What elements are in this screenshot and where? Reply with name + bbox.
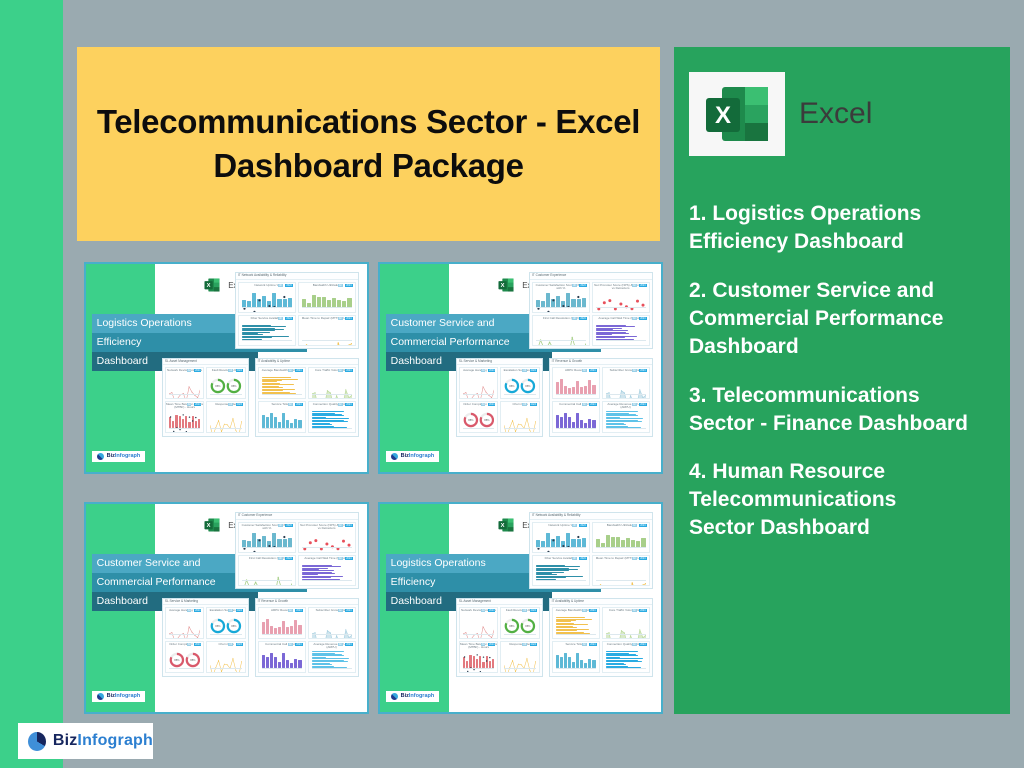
chart-plot <box>242 292 292 308</box>
chart-plot: 88%88% <box>504 377 536 394</box>
chart-cell: Fiber Service Availability2024All <box>532 555 590 586</box>
chart-plot <box>536 292 586 308</box>
chart-cell: Order Completion Rate2024All88%88% <box>165 641 205 673</box>
chart-badge-alt: All <box>572 317 577 320</box>
title-card: Telecommunications Sector - Excel Dashbo… <box>77 47 660 241</box>
dashboard-panel: IT Network Availability & ReliabilityNet… <box>235 272 359 349</box>
chart-cell: Mean Time to Repair (MTTR) - Hours2024Al… <box>298 315 356 346</box>
slide-canvas: Telecommunications Sector - Excel Dashbo… <box>0 0 1024 768</box>
chart-plot <box>606 377 646 394</box>
chart-cell: Customer Satisfaction Score (CSAT) - wit… <box>532 282 590 313</box>
chart-cell: Customer Satisfaction Score (CSAT) - wit… <box>238 522 296 553</box>
chart-plot: 88%88% <box>169 651 201 668</box>
chart-badge: 2024 <box>488 643 495 646</box>
chart-plot <box>262 651 302 668</box>
chart-badge: 2024 <box>345 284 352 287</box>
chart-plot <box>312 617 352 634</box>
dashboard-panel: IT Availability & UptimeAverage Bandwidt… <box>255 358 359 437</box>
chart-plot <box>556 617 596 634</box>
chart-cell: Mean Time to Repair (MTTR) - Hours2024Al… <box>592 555 650 586</box>
chart-cell: Response Index2024All <box>500 641 540 673</box>
chart-plot: 88%88% <box>463 411 495 428</box>
chart-plot <box>596 292 646 308</box>
chart-badge-alt: All <box>338 369 343 372</box>
chart-cell: Network Device Downtime2024All <box>459 607 499 639</box>
chart-badge-alt: All <box>338 524 343 527</box>
excel-branding: X Excel <box>689 72 988 156</box>
chart-cell: Average Call Wait Time (Minutes)2024All <box>298 555 356 586</box>
chart-badge-alt: All <box>632 524 637 527</box>
chart-plot <box>302 565 352 581</box>
chart-cell: Order Completion Rate2024All88%88% <box>459 401 499 433</box>
chart-badge-alt: All <box>338 317 343 320</box>
svg-text:88%: 88% <box>468 418 474 422</box>
svg-text:88%: 88% <box>525 624 531 628</box>
chart-badge: 2024 <box>589 609 596 612</box>
chart-cell: Mean Time Between Failure (MTBF) - Hours… <box>459 641 499 673</box>
chart-cell: Response Index2024All <box>206 401 246 433</box>
excel-logo-svg: X <box>700 81 774 147</box>
chart-badge-alt: All <box>582 369 587 372</box>
chart-plot <box>312 377 352 394</box>
chart-badge-alt: All <box>632 317 637 320</box>
chart-badge: 2024 <box>345 524 352 527</box>
chart-badge: 2024 <box>345 557 352 560</box>
chart-plot <box>262 411 302 428</box>
chart-badge-alt: All <box>187 609 192 612</box>
chart-plot <box>312 411 352 428</box>
chart-plot <box>312 651 352 668</box>
chart-badge: 2024 <box>639 557 646 560</box>
chart-cell: Churn Rate2024All <box>500 401 540 433</box>
chart-cell: Commercial Call Volume2024All <box>552 401 600 433</box>
logo-text: BizInfograph <box>401 693 435 699</box>
biz-infograph-logo: BizInfograph <box>386 451 440 462</box>
excel-label: Excel <box>799 97 872 131</box>
chart-badge: 2024 <box>285 557 292 560</box>
chart-cell: ARPU Revenue2024All <box>258 607 306 639</box>
chart-plot <box>606 651 646 668</box>
chart-badge: 2024 <box>589 369 596 372</box>
chart-plot <box>504 651 536 668</box>
chart-badge: 2024 <box>345 369 352 372</box>
chart-cell: Average Call Wait Time (Minutes)2024All <box>592 315 650 346</box>
dashboard-panel: IT Availability & UptimeAverage Bandwidt… <box>549 598 653 677</box>
chart-plot <box>556 651 596 668</box>
chart-cell: Subscriber Growth Rate2024All <box>602 367 650 399</box>
chart-cell: Fault Resolution Rate2024All88%88% <box>206 367 246 399</box>
chart-badge-alt: All <box>632 284 637 287</box>
chart-badge: 2024 <box>345 643 352 646</box>
chart-cell: Network Uptime %2024All <box>238 282 296 313</box>
pie-chart-icon <box>391 693 398 700</box>
chart-badge: 2024 <box>589 643 596 646</box>
list-item[interactable]: 1. Logistics Operations Efficiency Dashb… <box>689 200 988 256</box>
chart-badge: 2024 <box>236 403 243 406</box>
chart-badge-alt: All <box>187 369 192 372</box>
svg-text:88%: 88% <box>231 624 237 628</box>
chart-plot <box>210 411 242 428</box>
chart-plot <box>606 617 646 634</box>
chart-plot <box>463 617 495 634</box>
chart-badge-alt: All <box>572 524 577 527</box>
chart-plot <box>169 377 201 394</box>
chart-badge: 2024 <box>295 609 302 612</box>
dashboard-panel: IT Customer ExperienceCustomer Satisfact… <box>235 512 359 589</box>
chart-cell: Connection Quality Indicator2024All <box>602 641 650 673</box>
chart-badge-alt: All <box>278 317 283 320</box>
chart-plot <box>504 411 536 428</box>
excel-logo-icon: X <box>495 515 517 535</box>
chart-badge-alt: All <box>632 557 637 560</box>
chart-cell: Bandwidth Utilization2024All <box>298 282 356 313</box>
chart-badge: 2024 <box>345 609 352 612</box>
dashboard-list-panel: X Excel 1. Logistics Operations Efficien… <box>674 47 1010 714</box>
chart-badge: 2024 <box>236 643 243 646</box>
chart-plot <box>242 532 292 548</box>
svg-text:88%: 88% <box>190 658 196 662</box>
chart-plot <box>463 377 495 394</box>
chart-badge-alt: All <box>481 643 486 646</box>
chart-badge: 2024 <box>579 284 586 287</box>
logo-text: BizInfograph <box>107 693 141 699</box>
chart-plot <box>556 377 596 394</box>
biz-infograph-logo: BizInfograph <box>18 723 153 759</box>
chart-badge-alt: All <box>338 609 343 612</box>
chart-badge: 2024 <box>285 284 292 287</box>
chart-cell: Network Uptime %2024All <box>532 522 590 553</box>
svg-text:X: X <box>207 284 211 290</box>
chart-badge-alt: All <box>288 609 293 612</box>
svg-text:88%: 88% <box>510 624 516 628</box>
chart-badge: 2024 <box>194 609 201 612</box>
chart-cell: Subscriber Growth Rate2024All <box>308 607 356 639</box>
chart-badge: 2024 <box>285 317 292 320</box>
chart-badge-alt: All <box>481 369 486 372</box>
list-item[interactable]: 4. Human Resource Telecommunications Sec… <box>689 458 988 542</box>
chart-badge-alt: All <box>481 609 486 612</box>
chart-badge: 2024 <box>488 609 495 612</box>
chart-cell: Network Device Downtime2024All <box>165 367 205 399</box>
chart-cell: Average Revenue per User (ARPU)2024All <box>602 401 650 433</box>
list-item[interactable]: 3. Telecommunications Sector - Finance D… <box>689 382 988 438</box>
excel-logo-icon: X <box>495 275 517 295</box>
biz-infograph-logo: BizInfograph <box>386 691 440 702</box>
svg-text:88%: 88% <box>216 624 222 628</box>
chart-plot <box>302 532 352 548</box>
chart-cell: Core Traffic Volume (GB)2024All <box>308 367 356 399</box>
chart-badge-alt: All <box>338 557 343 560</box>
chart-plot: 88%88% <box>210 617 242 634</box>
chart-badge-alt: All <box>632 403 637 406</box>
chart-badge-alt: All <box>582 609 587 612</box>
chart-badge-alt: All <box>338 403 343 406</box>
chart-plot <box>242 565 292 581</box>
svg-text:X: X <box>207 524 211 530</box>
chart-badge-alt: All <box>572 557 577 560</box>
chart-plot <box>169 411 201 428</box>
chart-badge: 2024 <box>639 643 646 646</box>
chart-cell: Fault Resolution Rate2024All88%88% <box>500 607 540 639</box>
logo-text: BizInfograph <box>53 732 153 750</box>
dashboard-thumbnail-2[interactable]: XExcelCustomer Service andCommercial Per… <box>378 262 663 474</box>
chart-cell: Average Revenue per User (ARPU)2024All <box>308 641 356 673</box>
chart-plot <box>169 617 201 634</box>
svg-text:88%: 88% <box>525 384 531 388</box>
dashboard-panel: IT Customer ExperienceCustomer Satisfact… <box>529 272 653 349</box>
chart-badge: 2024 <box>345 403 352 406</box>
biz-infograph-logo: BizInfograph <box>92 451 146 462</box>
chart-badge: 2024 <box>295 643 302 646</box>
chart-badge-alt: All <box>338 643 343 646</box>
chart-badge: 2024 <box>589 403 596 406</box>
list-item[interactable]: 2. Customer Service and Commercial Perfo… <box>689 277 988 361</box>
chart-badge: 2024 <box>295 403 302 406</box>
chart-plot <box>556 411 596 428</box>
chart-cell: Core Traffic Volume (GB)2024All <box>602 607 650 639</box>
dashboard-panel: SL Asset ManagementNetwork Device Downti… <box>456 598 543 677</box>
chart-cell: Net Promoter Score (NPS) & Promoters vs … <box>592 282 650 313</box>
chart-badge-alt: All <box>572 284 577 287</box>
svg-text:88%: 88% <box>174 658 180 662</box>
chart-cell: Service Tickets2024All <box>552 641 600 673</box>
chart-badge: 2024 <box>579 317 586 320</box>
pie-chart-icon <box>391 453 398 460</box>
dashboard-panel: SL Service & MarketingAverage Handling T… <box>456 358 543 437</box>
chart-badge-alt: All <box>522 643 527 646</box>
chart-cell: Bandwidth Utilization2024All <box>592 522 650 553</box>
chart-plot: 88%88% <box>210 377 242 394</box>
chart-cell: Mean Time Between Failure (MTBF) - Hours… <box>165 401 205 433</box>
chart-cell: Average Handling Time2024All <box>459 367 499 399</box>
chart-cell: Escalation Success Rate2024All88%88% <box>500 367 540 399</box>
chart-badge-alt: All <box>228 643 233 646</box>
chart-plot <box>606 411 646 428</box>
chart-cell: Commercial Call Volume2024All <box>258 641 306 673</box>
chart-cell: Average Bandwidth Efficiency2024All <box>258 367 306 399</box>
chart-plot <box>463 651 495 668</box>
dashboard-panel: SL Asset ManagementNetwork Device Downti… <box>162 358 249 437</box>
chart-badge: 2024 <box>488 369 495 372</box>
chart-badge: 2024 <box>194 369 201 372</box>
chart-badge: 2024 <box>194 403 201 406</box>
chart-badge-alt: All <box>288 369 293 372</box>
dashboard-panel: SL Service & MarketingAverage Handling T… <box>162 598 249 677</box>
left-accent-strip <box>0 0 63 768</box>
logo-text: BizInfograph <box>401 453 435 459</box>
svg-text:88%: 88% <box>510 384 516 388</box>
chart-plot: 88%88% <box>504 617 536 634</box>
chart-plot <box>596 565 646 581</box>
dashboard-panel: IT Revenue & GrowthARPU Revenue2024AllSu… <box>549 358 653 437</box>
chart-badge: 2024 <box>639 403 646 406</box>
chart-cell: Escalation Success Rate2024All88%88% <box>206 607 246 639</box>
biz-infograph-logo: BizInfograph <box>92 691 146 702</box>
chart-badge: 2024 <box>530 403 537 406</box>
chart-badge-alt: All <box>632 643 637 646</box>
chart-badge-alt: All <box>278 284 283 287</box>
chart-badge-alt: All <box>632 609 637 612</box>
chart-badge-alt: All <box>288 403 293 406</box>
chart-plot <box>596 532 646 548</box>
dashboard-thumbnail-1[interactable]: XExcelLogistics OperationsEfficiencyDash… <box>84 262 369 474</box>
chart-cell: Service Tickets2024All <box>258 401 306 433</box>
excel-logo-icon: X <box>201 275 223 295</box>
dashboard-panel: IT Revenue & GrowthARPU Revenue2024AllSu… <box>255 598 359 677</box>
logo-text-biz: Biz <box>53 732 78 749</box>
svg-text:88%: 88% <box>216 384 222 388</box>
chart-cell: Fiber Service Availability2024All <box>238 315 296 346</box>
chart-plot <box>242 325 292 341</box>
chart-badge: 2024 <box>639 524 646 527</box>
chart-badge-alt: All <box>582 403 587 406</box>
pie-chart-icon <box>97 453 104 460</box>
chart-badge-alt: All <box>228 403 233 406</box>
chart-plot <box>262 377 302 394</box>
chart-badge: 2024 <box>639 317 646 320</box>
chart-plot <box>536 532 586 548</box>
chart-plot <box>210 651 242 668</box>
chart-badge-alt: All <box>338 284 343 287</box>
chart-badge: 2024 <box>579 524 586 527</box>
chart-plot <box>536 325 586 341</box>
chart-cell: Connection Quality Indicator2024All <box>308 401 356 433</box>
chart-badge: 2024 <box>639 609 646 612</box>
pie-chart-icon <box>28 732 46 751</box>
chart-cell: Average Bandwidth Efficiency2024All <box>552 607 600 639</box>
chart-badge-alt: All <box>187 403 192 406</box>
dashboard-thumbnail-4[interactable]: XExcelLogistics OperationsEfficiencyDash… <box>378 502 663 714</box>
page-title: Telecommunications Sector - Excel Dashbo… <box>77 100 660 188</box>
chart-plot <box>302 325 352 341</box>
chart-badge-alt: All <box>582 643 587 646</box>
svg-text:88%: 88% <box>231 384 237 388</box>
pie-chart-icon <box>97 693 104 700</box>
chart-badge-alt: All <box>522 403 527 406</box>
chart-cell: Average Handling Time2024All <box>165 607 205 639</box>
chart-plot <box>262 617 302 634</box>
excel-logo-icon: X <box>201 515 223 535</box>
dashboard-list: 1. Logistics Operations Efficiency Dashb… <box>689 200 988 542</box>
dashboard-thumbnail-3[interactable]: XExcelCustomer Service andCommercial Per… <box>84 502 369 714</box>
chart-badge-alt: All <box>288 643 293 646</box>
chart-badge-alt: All <box>632 369 637 372</box>
chart-badge: 2024 <box>639 284 646 287</box>
svg-text:X: X <box>715 102 731 129</box>
chart-plot <box>302 292 352 308</box>
chart-badge: 2024 <box>285 524 292 527</box>
dashboard-panel: IT Network Availability & ReliabilityNet… <box>529 512 653 589</box>
excel-logo-icon: X <box>689 72 785 156</box>
chart-cell: First Call Resolution (FCR)2024All <box>238 555 296 586</box>
chart-badge: 2024 <box>295 369 302 372</box>
chart-badge-alt: All <box>278 524 283 527</box>
svg-text:X: X <box>501 284 505 290</box>
chart-badge: 2024 <box>639 369 646 372</box>
chart-plot <box>536 565 586 581</box>
svg-text:88%: 88% <box>484 418 490 422</box>
logo-text-infograph: Infograph <box>77 732 153 749</box>
logo-text: BizInfograph <box>107 453 141 459</box>
chart-cell: ARPU Revenue2024All <box>552 367 600 399</box>
chart-badge: 2024 <box>579 557 586 560</box>
chart-plot <box>596 325 646 341</box>
chart-badge: 2024 <box>345 317 352 320</box>
chart-cell: First Call Resolution (FCR)2024All <box>532 315 590 346</box>
chart-badge: 2024 <box>530 643 537 646</box>
chart-cell: Churn Rate2024All <box>206 641 246 673</box>
chart-cell: Net Promoter Score (NPS) & Promoters vs … <box>298 522 356 553</box>
chart-badge-alt: All <box>278 557 283 560</box>
svg-text:X: X <box>501 524 505 530</box>
